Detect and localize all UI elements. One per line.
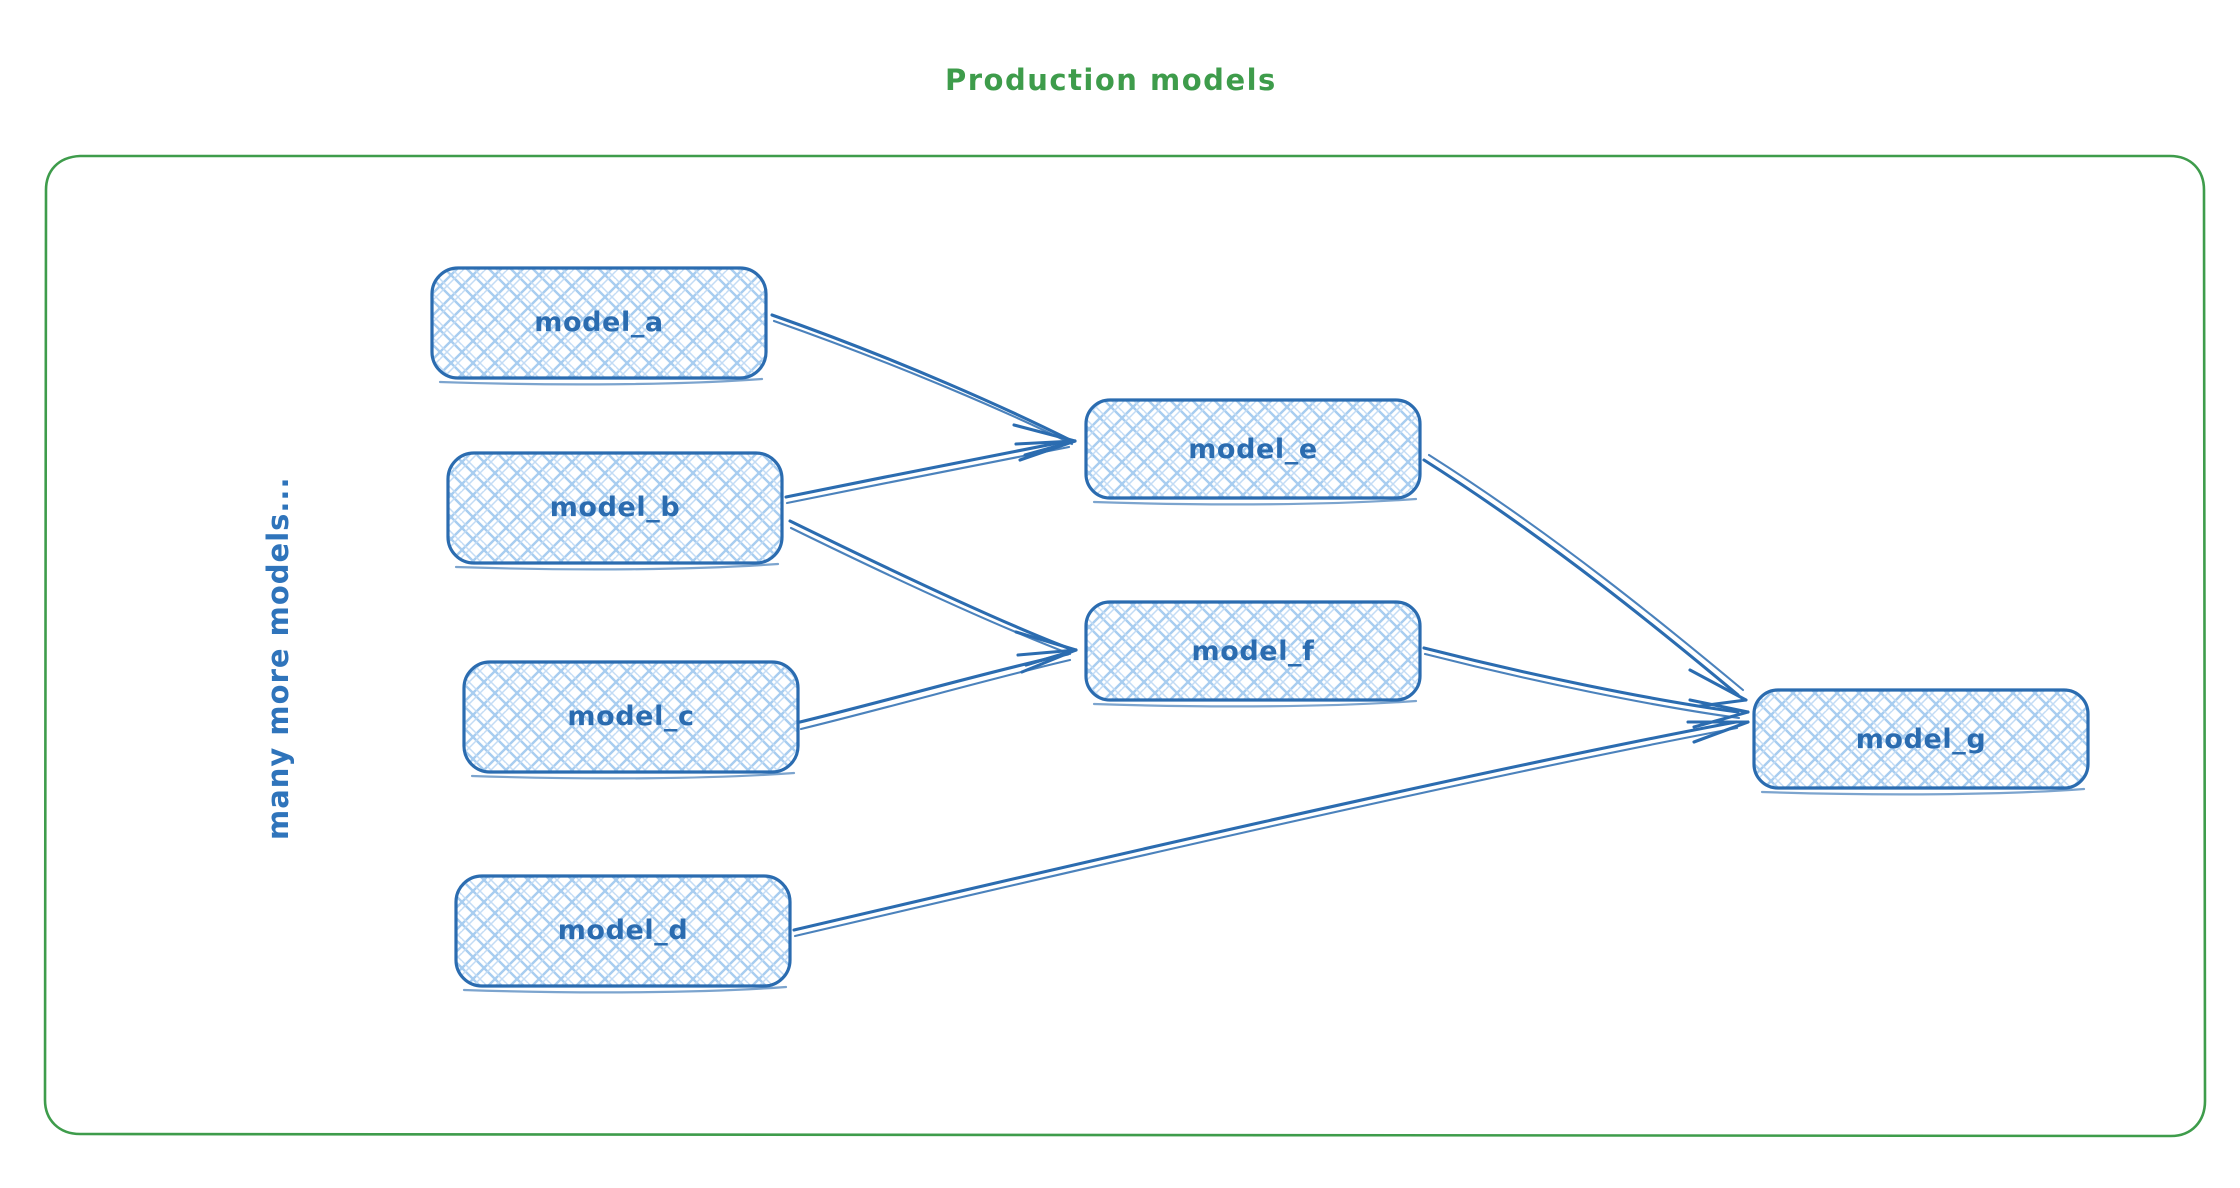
page-title: Production models <box>945 63 1277 97</box>
node-model-f-label: model_f <box>1191 636 1314 667</box>
node-model-a-sketch-stroke <box>440 379 762 384</box>
side-note-group: many more models... <box>261 477 295 840</box>
node-model-b[interactable]: model_b <box>448 453 782 569</box>
edge-model-e-to-model-g <box>1424 455 1746 706</box>
edge-model-c-to-model-f <box>800 650 1076 729</box>
node-model-b-sketch-stroke <box>456 564 778 569</box>
node-model-g-label: model_g <box>1856 724 1987 755</box>
node-model-d[interactable]: model_d <box>456 876 790 992</box>
node-model-a[interactable]: model_a <box>432 268 766 384</box>
production-models-diagram: Production models many more models... <box>0 0 2240 1188</box>
edge-model-b-to-model-e <box>786 441 1075 503</box>
edge-model-b-to-model-f <box>790 521 1076 665</box>
node-model-c-label: model_c <box>567 701 694 732</box>
edge-model-a-to-model-e <box>772 315 1075 455</box>
node-model-d-label: model_d <box>558 915 689 946</box>
diagram-canvas: Production models many more models... <box>0 0 2240 1188</box>
node-model-f-sketch-stroke <box>1094 701 1416 706</box>
node-model-c-sketch-stroke <box>472 773 794 778</box>
node-model-e[interactable]: model_e <box>1086 400 1420 504</box>
node-model-g[interactable]: model_g <box>1754 690 2088 794</box>
node-model-e-label: model_e <box>1188 434 1318 465</box>
node-model-a-label: model_a <box>534 307 664 338</box>
many-more-models-label: many more models... <box>261 477 295 840</box>
node-model-e-sketch-stroke <box>1094 499 1416 504</box>
node-model-g-sketch-stroke <box>1762 789 2084 794</box>
node-model-c[interactable]: model_c <box>464 662 798 778</box>
node-model-d-sketch-stroke <box>464 987 786 992</box>
node-model-b-label: model_b <box>550 492 681 523</box>
edge-model-f-to-model-g <box>1424 648 1748 727</box>
edge-model-d-to-model-g <box>794 722 1748 936</box>
node-model-f[interactable]: model_f <box>1086 602 1420 706</box>
